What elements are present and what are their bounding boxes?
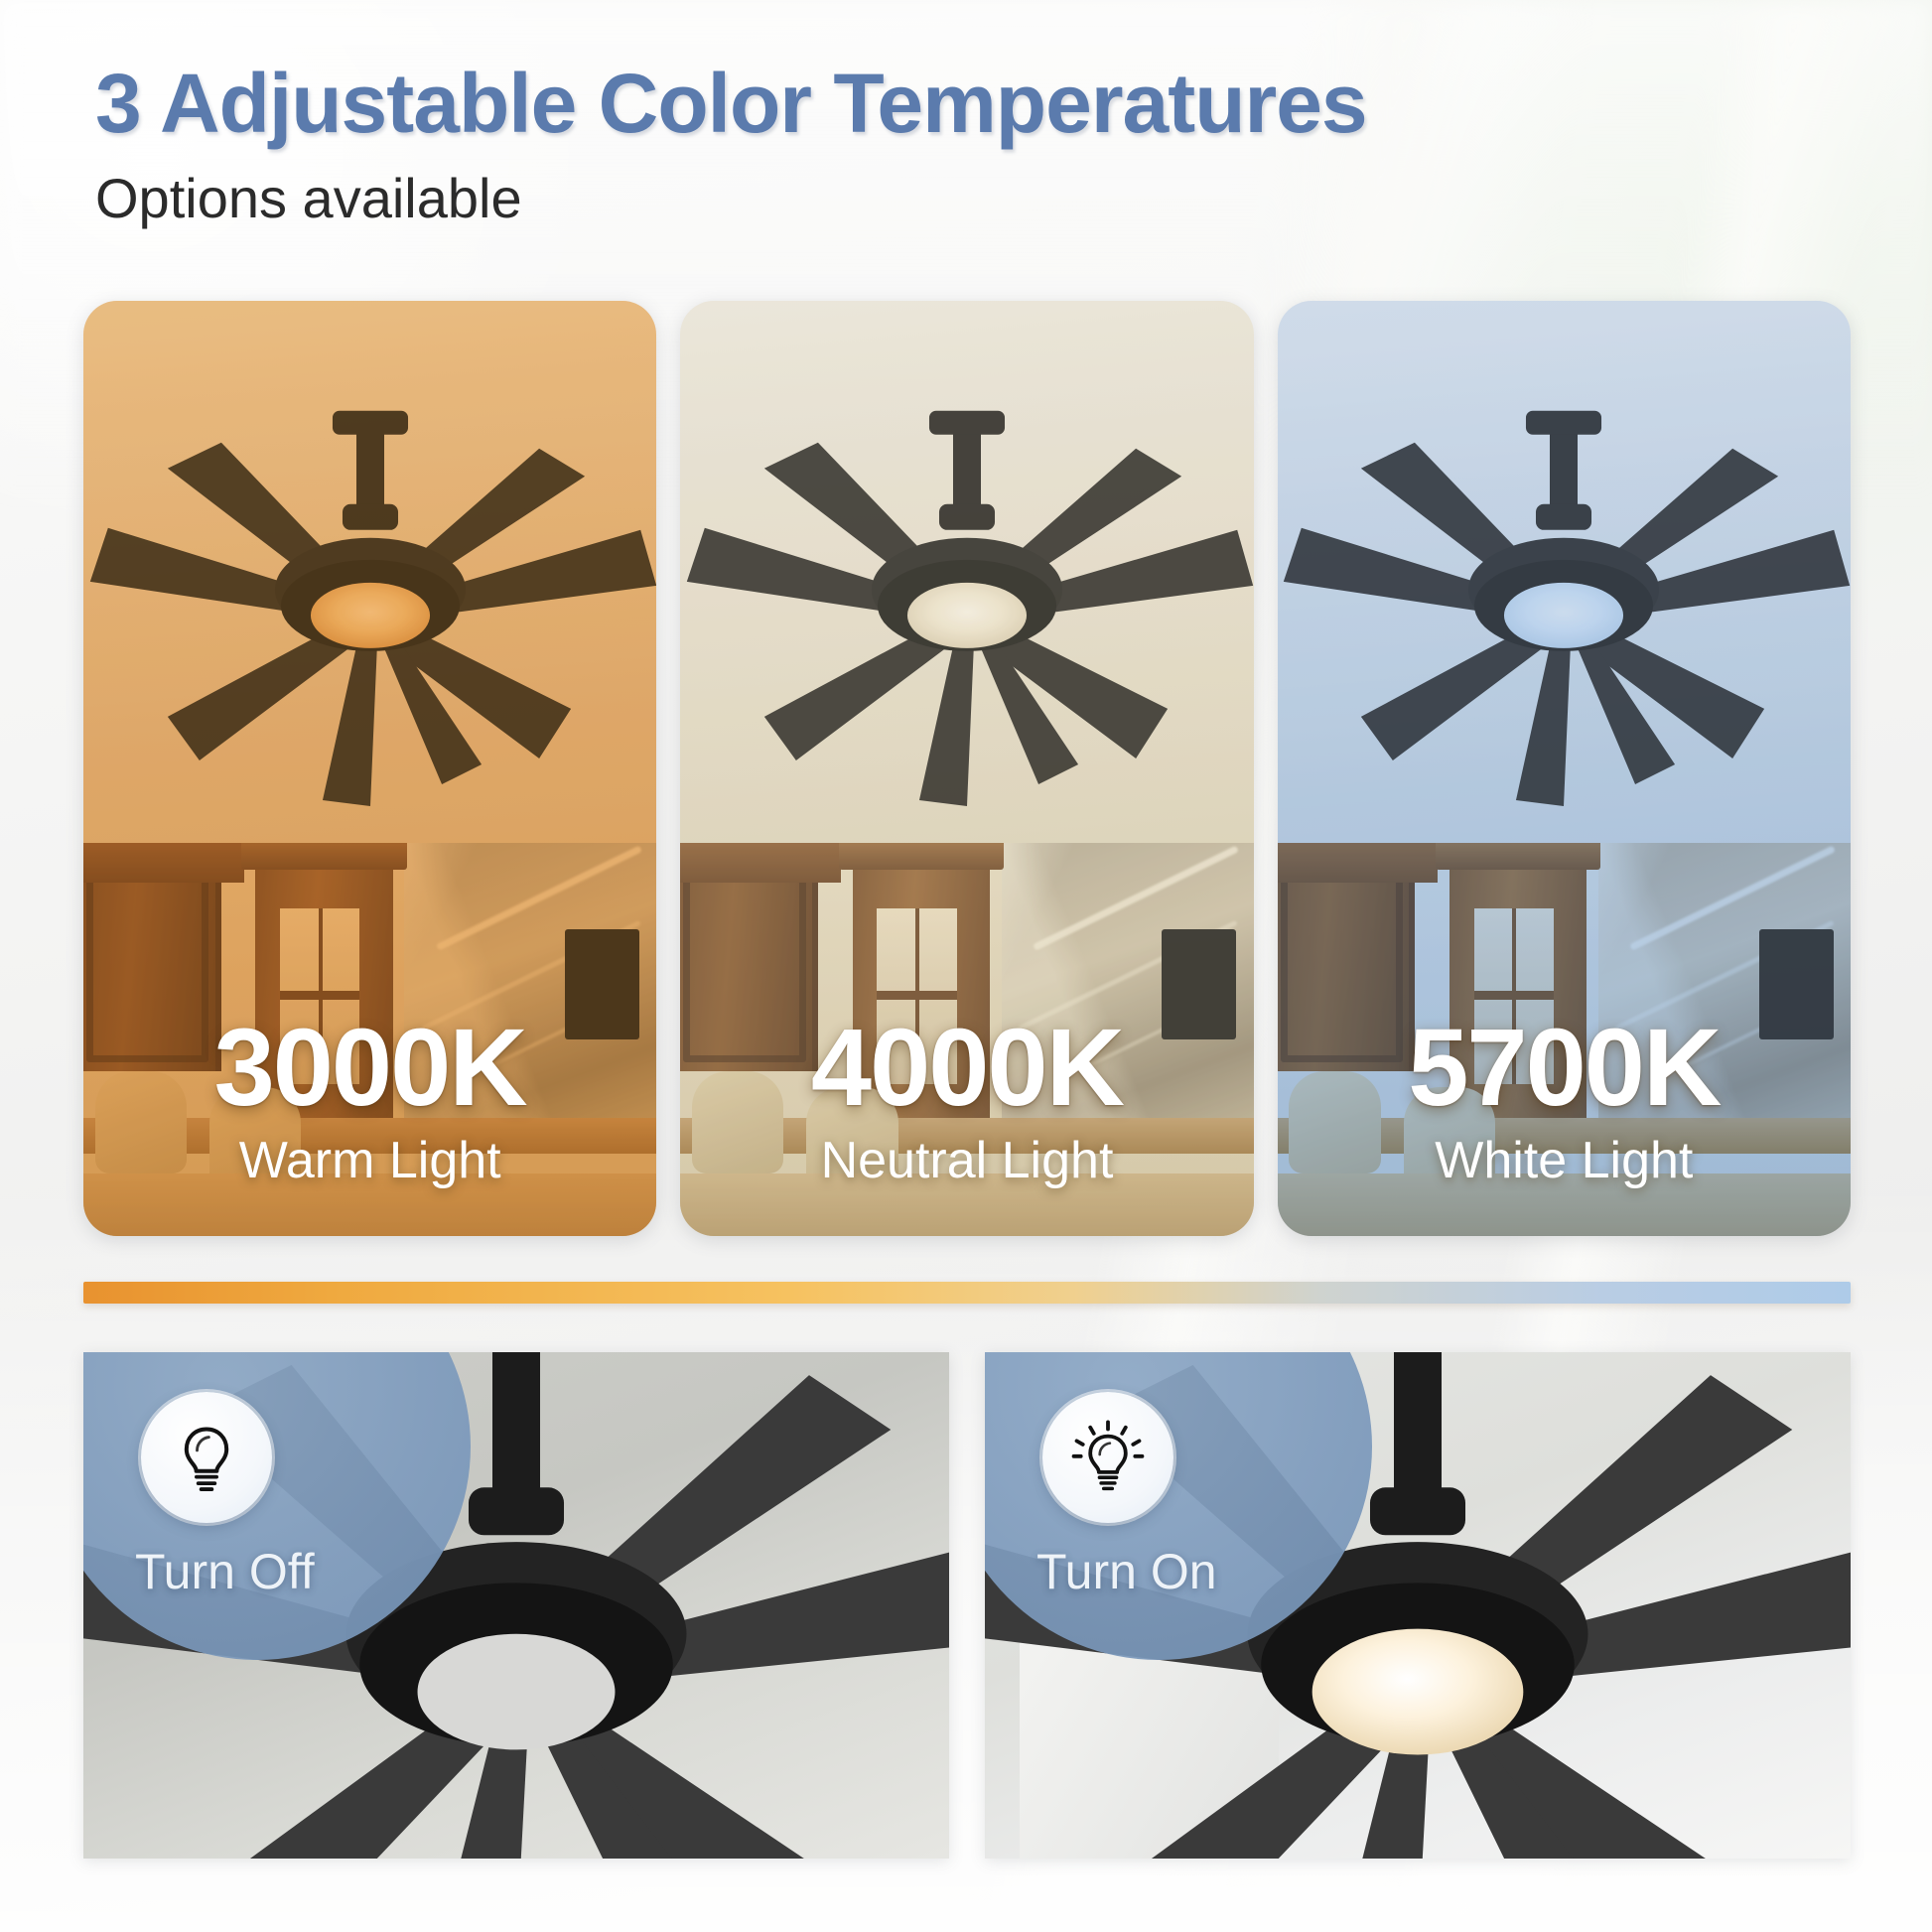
temperature-card-5700k[interactable]: 5700K White Light — [1278, 301, 1851, 1236]
demo-panel-turn-off[interactable]: Turn Off — [83, 1352, 949, 1859]
light-globe-off — [418, 1634, 616, 1750]
demo-label-turn-off: Turn Off — [135, 1547, 315, 1596]
card-label-3000k: 3000K Warm Light — [83, 1014, 656, 1186]
page-title: 3 Adjustable Color Temperatures — [95, 56, 1367, 152]
kelvin-value: 5700K — [1278, 1014, 1851, 1123]
bulb-off-icon — [169, 1420, 244, 1495]
demo-panel-turn-on[interactable]: Turn On — [985, 1352, 1851, 1859]
light-globe-on — [1312, 1628, 1524, 1754]
header: 3 Adjustable Color Temperatures Options … — [95, 56, 1367, 230]
light-name: White Light — [1278, 1135, 1851, 1186]
bulb-on-icon-badge[interactable] — [1042, 1392, 1173, 1523]
kelvin-value: 3000K — [83, 1014, 656, 1123]
card-label-5700k: 5700K White Light — [1278, 1014, 1851, 1186]
demo-label-turn-on: Turn On — [1036, 1547, 1217, 1596]
page-subtitle: Options available — [95, 166, 1367, 230]
light-name: Warm Light — [83, 1135, 656, 1186]
kelvin-value: 4000K — [680, 1014, 1253, 1123]
color-temperature-card-row: 3000K Warm Light — [83, 301, 1851, 1236]
color-gradient-divider — [83, 1282, 1851, 1304]
light-state-demo-row: Turn Off — [83, 1352, 1851, 1859]
temperature-card-3000k[interactable]: 3000K Warm Light — [83, 301, 656, 1236]
bulb-off-icon-badge[interactable] — [141, 1392, 272, 1523]
temperature-card-4000k[interactable]: 4000K Neutral Light — [680, 301, 1253, 1236]
card-label-4000k: 4000K Neutral Light — [680, 1014, 1253, 1186]
light-name: Neutral Light — [680, 1135, 1253, 1186]
bulb-on-icon — [1070, 1420, 1146, 1495]
